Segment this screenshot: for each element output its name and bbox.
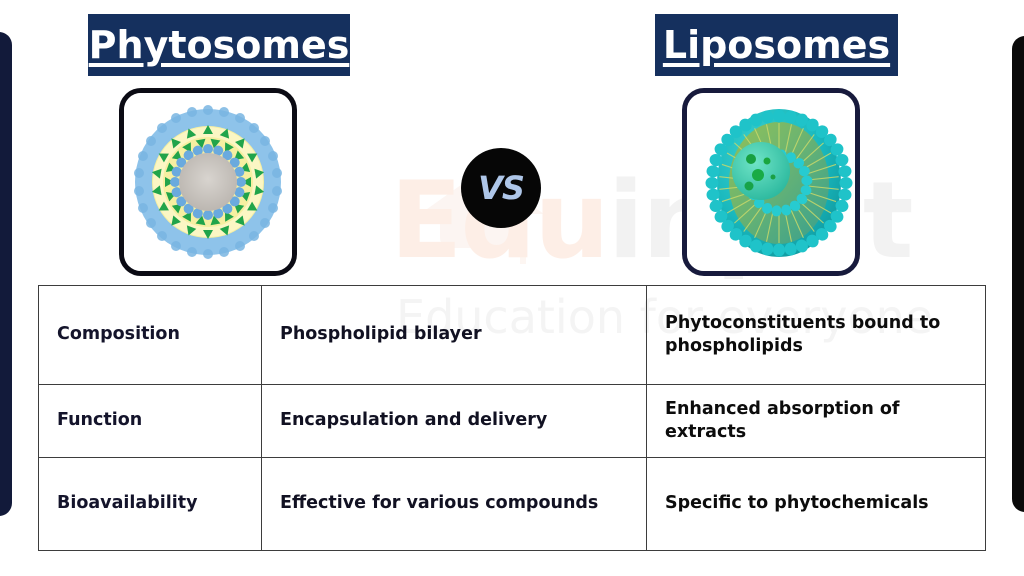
row-label-composition: Composition	[39, 286, 262, 385]
row-left-function: Encapsulation and delivery	[262, 385, 647, 458]
vs-badge: VS	[461, 148, 541, 228]
phytosome-image-card	[119, 88, 297, 276]
comparison-table: Composition Phospholipid bilayer Phytoco…	[38, 285, 986, 551]
row-right-bioavailability: Specific to phytochemicals	[647, 458, 986, 551]
right-edge-bar	[1012, 36, 1024, 512]
table-row: Bioavailability Effective for various co…	[39, 458, 986, 551]
table-row: Composition Phospholipid bilayer Phytoco…	[39, 286, 986, 385]
comparison-infographic: Eduinput Education for everyone Phytosom…	[0, 0, 1024, 576]
row-label-function: Function	[39, 385, 262, 458]
title-banner-liposomes: Liposomes	[655, 14, 898, 76]
liposome-image-card	[682, 88, 860, 276]
left-edge-bar	[0, 32, 12, 516]
liposome-diagram-icon	[687, 93, 855, 271]
vs-label: VS	[478, 169, 524, 207]
phytosome-diagram-icon	[124, 93, 292, 271]
row-right-composition: Phytoconstituents bound to phospholipids	[647, 286, 986, 385]
row-label-bioavailability: Bioavailability	[39, 458, 262, 551]
row-left-bioavailability: Effective for various compounds	[262, 458, 647, 551]
row-left-composition: Phospholipid bilayer	[262, 286, 647, 385]
title-phytosomes: Phytosomes	[89, 23, 350, 67]
title-banner-phytosomes: Phytosomes	[88, 14, 350, 76]
title-liposomes: Liposomes	[663, 23, 890, 67]
table-row: Function Encapsulation and delivery Enha…	[39, 385, 986, 458]
row-right-function: Enhanced absorption of extracts	[647, 385, 986, 458]
